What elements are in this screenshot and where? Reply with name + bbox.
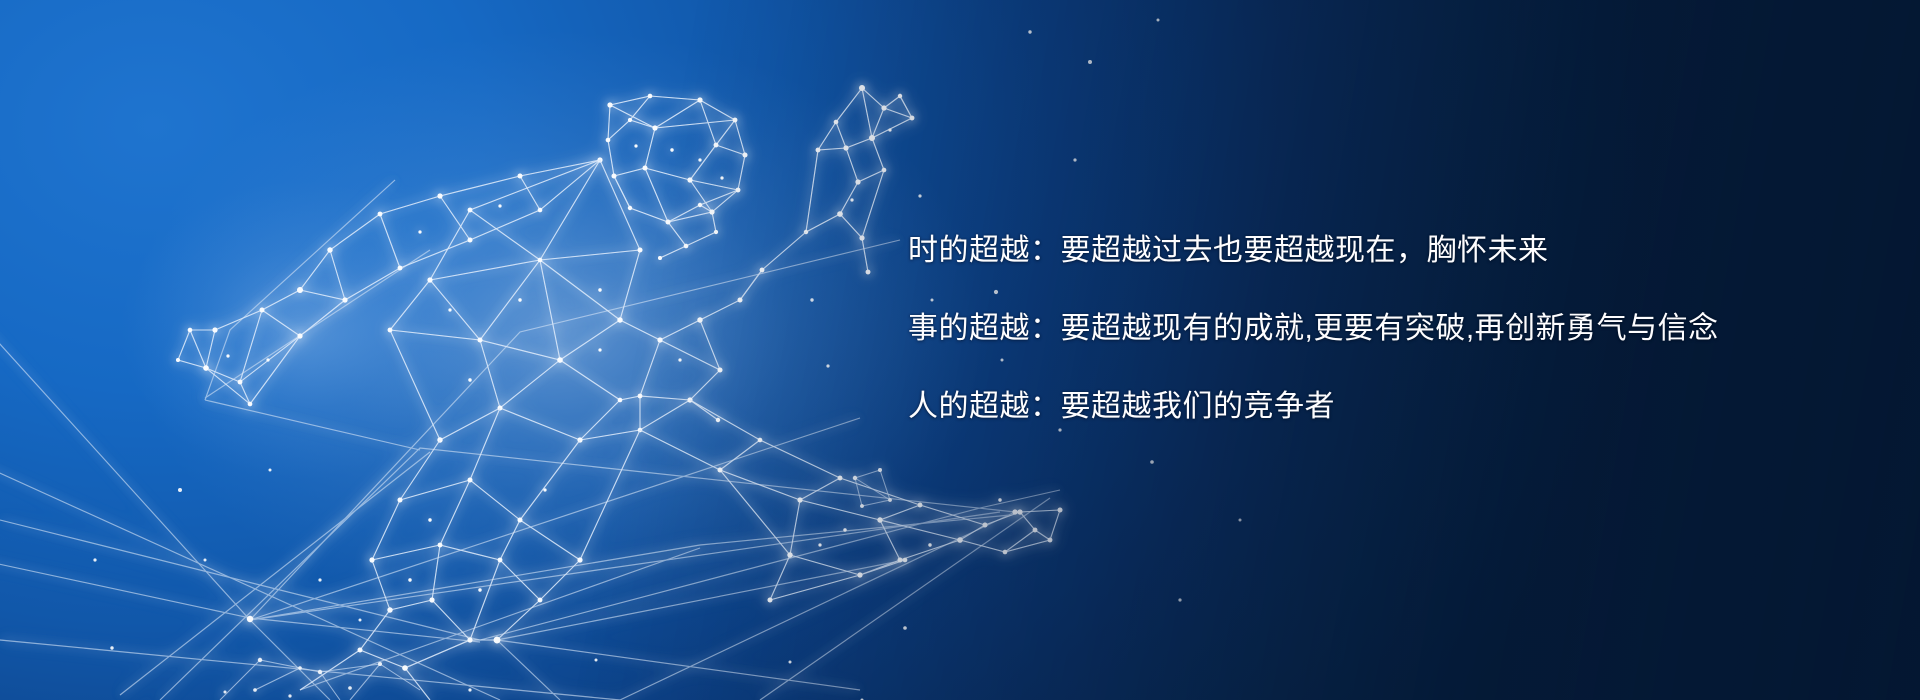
tagline-people: 人的超越：要超越我们的竞争者 <box>908 392 1719 422</box>
tagline-time: 时的超越：要超越过去也要超越现在，胸怀未来 <box>908 236 1719 266</box>
tagline-group: 时的超越：要超越过去也要超越现在，胸怀未来 事的超越：要超越现有的成就,更要有突… <box>908 236 1719 422</box>
tagline-matter: 事的超越：要超越现有的成就,更要有突破,再创新勇气与信念 <box>908 314 1719 344</box>
hero-banner: 时的超越：要超越过去也要超越现在，胸怀未来 事的超越：要超越现有的成就,更要有突… <box>0 0 1920 700</box>
